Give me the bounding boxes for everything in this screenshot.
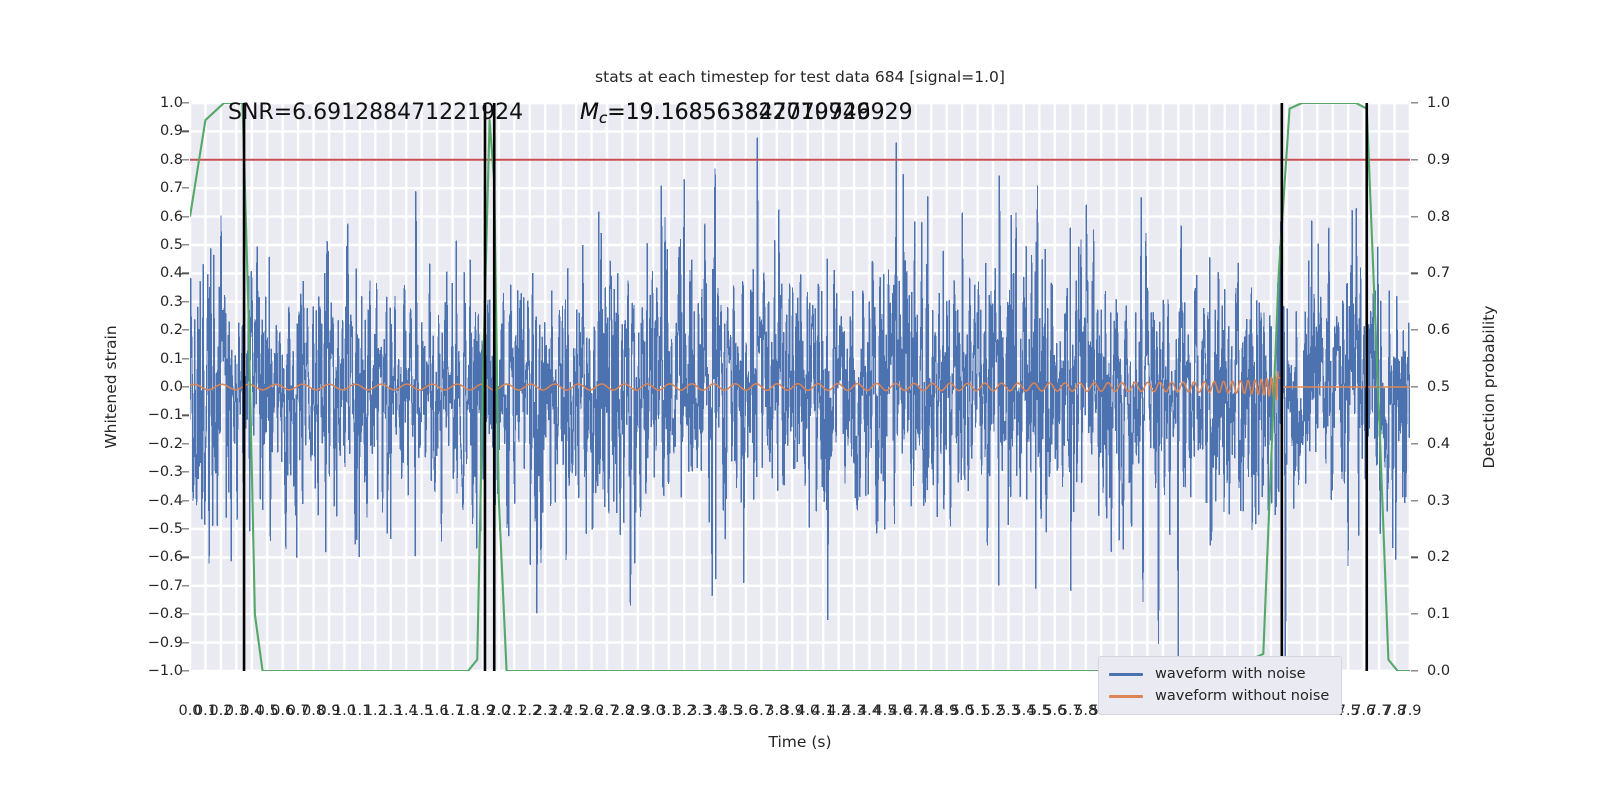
y-tick-left-6: 0.4 bbox=[160, 265, 183, 281]
y-tick-left-11: −0.1 bbox=[148, 407, 183, 423]
y-tick-right-1: 0.9 bbox=[1427, 152, 1450, 168]
chirp-mass-value: 19.168563842779949 bbox=[626, 100, 871, 125]
y-tick-mark-left-2 bbox=[182, 159, 189, 160]
y-tick-mark-left-13 bbox=[182, 472, 189, 473]
y-tick-mark-left-16 bbox=[182, 557, 189, 558]
x-axis-label: Time (s) bbox=[768, 733, 831, 751]
y-tick-mark-right-3 bbox=[1411, 273, 1418, 274]
y-tick-left-3: 0.7 bbox=[160, 180, 183, 196]
y-tick-left-18: −0.8 bbox=[148, 606, 183, 622]
y-tick-mark-left-19 bbox=[182, 642, 189, 643]
y-tick-mark-left-0 bbox=[182, 102, 189, 103]
snr-annotation: SNR=6.691288471221924 bbox=[228, 100, 523, 125]
y-tick-left-7: 0.3 bbox=[160, 294, 183, 310]
matplotlib-figure: stats at each timestep for test data 684… bbox=[0, 0, 1600, 800]
y-tick-mark-right-8 bbox=[1411, 557, 1418, 558]
y-tick-right-2: 0.8 bbox=[1427, 209, 1450, 225]
y-tick-right-10: 0.0 bbox=[1427, 663, 1450, 679]
y-tick-mark-left-15 bbox=[182, 528, 189, 529]
y-tick-mark-left-4 bbox=[182, 216, 189, 217]
y-tick-mark-right-5 bbox=[1411, 386, 1418, 387]
y-tick-left-20: −1.0 bbox=[148, 663, 183, 679]
y-tick-mark-right-7 bbox=[1411, 500, 1418, 501]
plot-axes bbox=[190, 103, 1410, 671]
y-tick-left-4: 0.6 bbox=[160, 209, 183, 225]
y-tick-mark-right-0 bbox=[1411, 102, 1418, 103]
y-tick-right-4: 0.6 bbox=[1427, 322, 1450, 338]
y-tick-left-10: 0.0 bbox=[160, 379, 183, 395]
chirp-mass-symbol: M bbox=[580, 100, 599, 125]
y-tick-right-5: 0.5 bbox=[1427, 379, 1450, 395]
legend-label-0: waveform with noise bbox=[1155, 666, 1306, 682]
y-tick-right-7: 0.3 bbox=[1427, 493, 1450, 509]
y-tick-left-19: −0.9 bbox=[148, 635, 183, 651]
y-tick-left-5: 0.5 bbox=[160, 237, 183, 253]
y-tick-mark-right-10 bbox=[1411, 670, 1418, 671]
y-tick-mark-left-18 bbox=[182, 614, 189, 615]
x-tick-79: 7.9 bbox=[1398, 703, 1421, 719]
y-tick-mark-left-8 bbox=[182, 330, 189, 331]
y-tick-left-1: 0.9 bbox=[160, 123, 183, 139]
y-tick-mark-left-3 bbox=[182, 188, 189, 189]
y-tick-mark-right-6 bbox=[1411, 443, 1418, 444]
y-tick-mark-right-4 bbox=[1411, 330, 1418, 331]
y-tick-mark-right-1 bbox=[1411, 159, 1418, 160]
chirp-mass-equals: = bbox=[607, 100, 625, 125]
y-tick-mark-left-20 bbox=[182, 670, 189, 671]
y-tick-right-9: 0.1 bbox=[1427, 606, 1450, 622]
y-tick-left-0: 1.0 bbox=[160, 95, 183, 111]
legend: waveform with noisewaveform without nois… bbox=[1098, 656, 1342, 715]
legend-swatch-0 bbox=[1109, 673, 1143, 676]
y-tick-mark-left-11 bbox=[182, 415, 189, 416]
y-tick-left-15: −0.5 bbox=[148, 521, 183, 537]
y-tick-mark-left-6 bbox=[182, 273, 189, 274]
y-tick-right-6: 0.4 bbox=[1427, 436, 1450, 452]
legend-item-0[interactable]: waveform with noise bbox=[1109, 663, 1329, 685]
y-tick-mark-left-1 bbox=[182, 131, 189, 132]
data-layer bbox=[190, 103, 1410, 671]
y-tick-mark-left-9 bbox=[182, 358, 189, 359]
y-tick-mark-left-17 bbox=[182, 585, 189, 586]
y-tick-mark-left-7 bbox=[182, 301, 189, 302]
y-tick-right-3: 0.7 bbox=[1427, 265, 1450, 281]
y-tick-mark-left-10 bbox=[182, 386, 189, 387]
y-tick-right-8: 0.2 bbox=[1427, 549, 1450, 565]
y-tick-left-2: 0.8 bbox=[160, 152, 183, 168]
y-axis-left-label: Whitened strain bbox=[102, 325, 120, 448]
y-tick-mark-right-2 bbox=[1411, 216, 1418, 217]
y-tick-left-12: −0.2 bbox=[148, 436, 183, 452]
y-tick-mark-left-5 bbox=[182, 244, 189, 245]
y-axis-right-label: Detection probability bbox=[1480, 306, 1498, 469]
plot-title: stats at each timestep for test data 684… bbox=[190, 68, 1410, 86]
chirp-mass-annotation: Mc=19.168563842779949 bbox=[580, 100, 871, 127]
legend-label-1: waveform without noise bbox=[1155, 688, 1329, 704]
y-tick-left-8: 0.2 bbox=[160, 322, 183, 338]
legend-swatch-1 bbox=[1109, 695, 1143, 698]
y-tick-right-0: 1.0 bbox=[1427, 95, 1450, 111]
y-tick-left-9: 0.1 bbox=[160, 351, 183, 367]
y-tick-left-13: −0.3 bbox=[148, 464, 183, 480]
y-tick-left-17: −0.7 bbox=[148, 578, 183, 594]
chirp-mass-subscript: c bbox=[599, 109, 607, 127]
legend-item-1[interactable]: waveform without noise bbox=[1109, 685, 1329, 707]
y-tick-mark-left-14 bbox=[182, 500, 189, 501]
y-tick-mark-right-9 bbox=[1411, 614, 1418, 615]
y-tick-mark-left-12 bbox=[182, 443, 189, 444]
y-tick-left-16: −0.6 bbox=[148, 549, 183, 565]
y-tick-left-14: −0.4 bbox=[148, 493, 183, 509]
